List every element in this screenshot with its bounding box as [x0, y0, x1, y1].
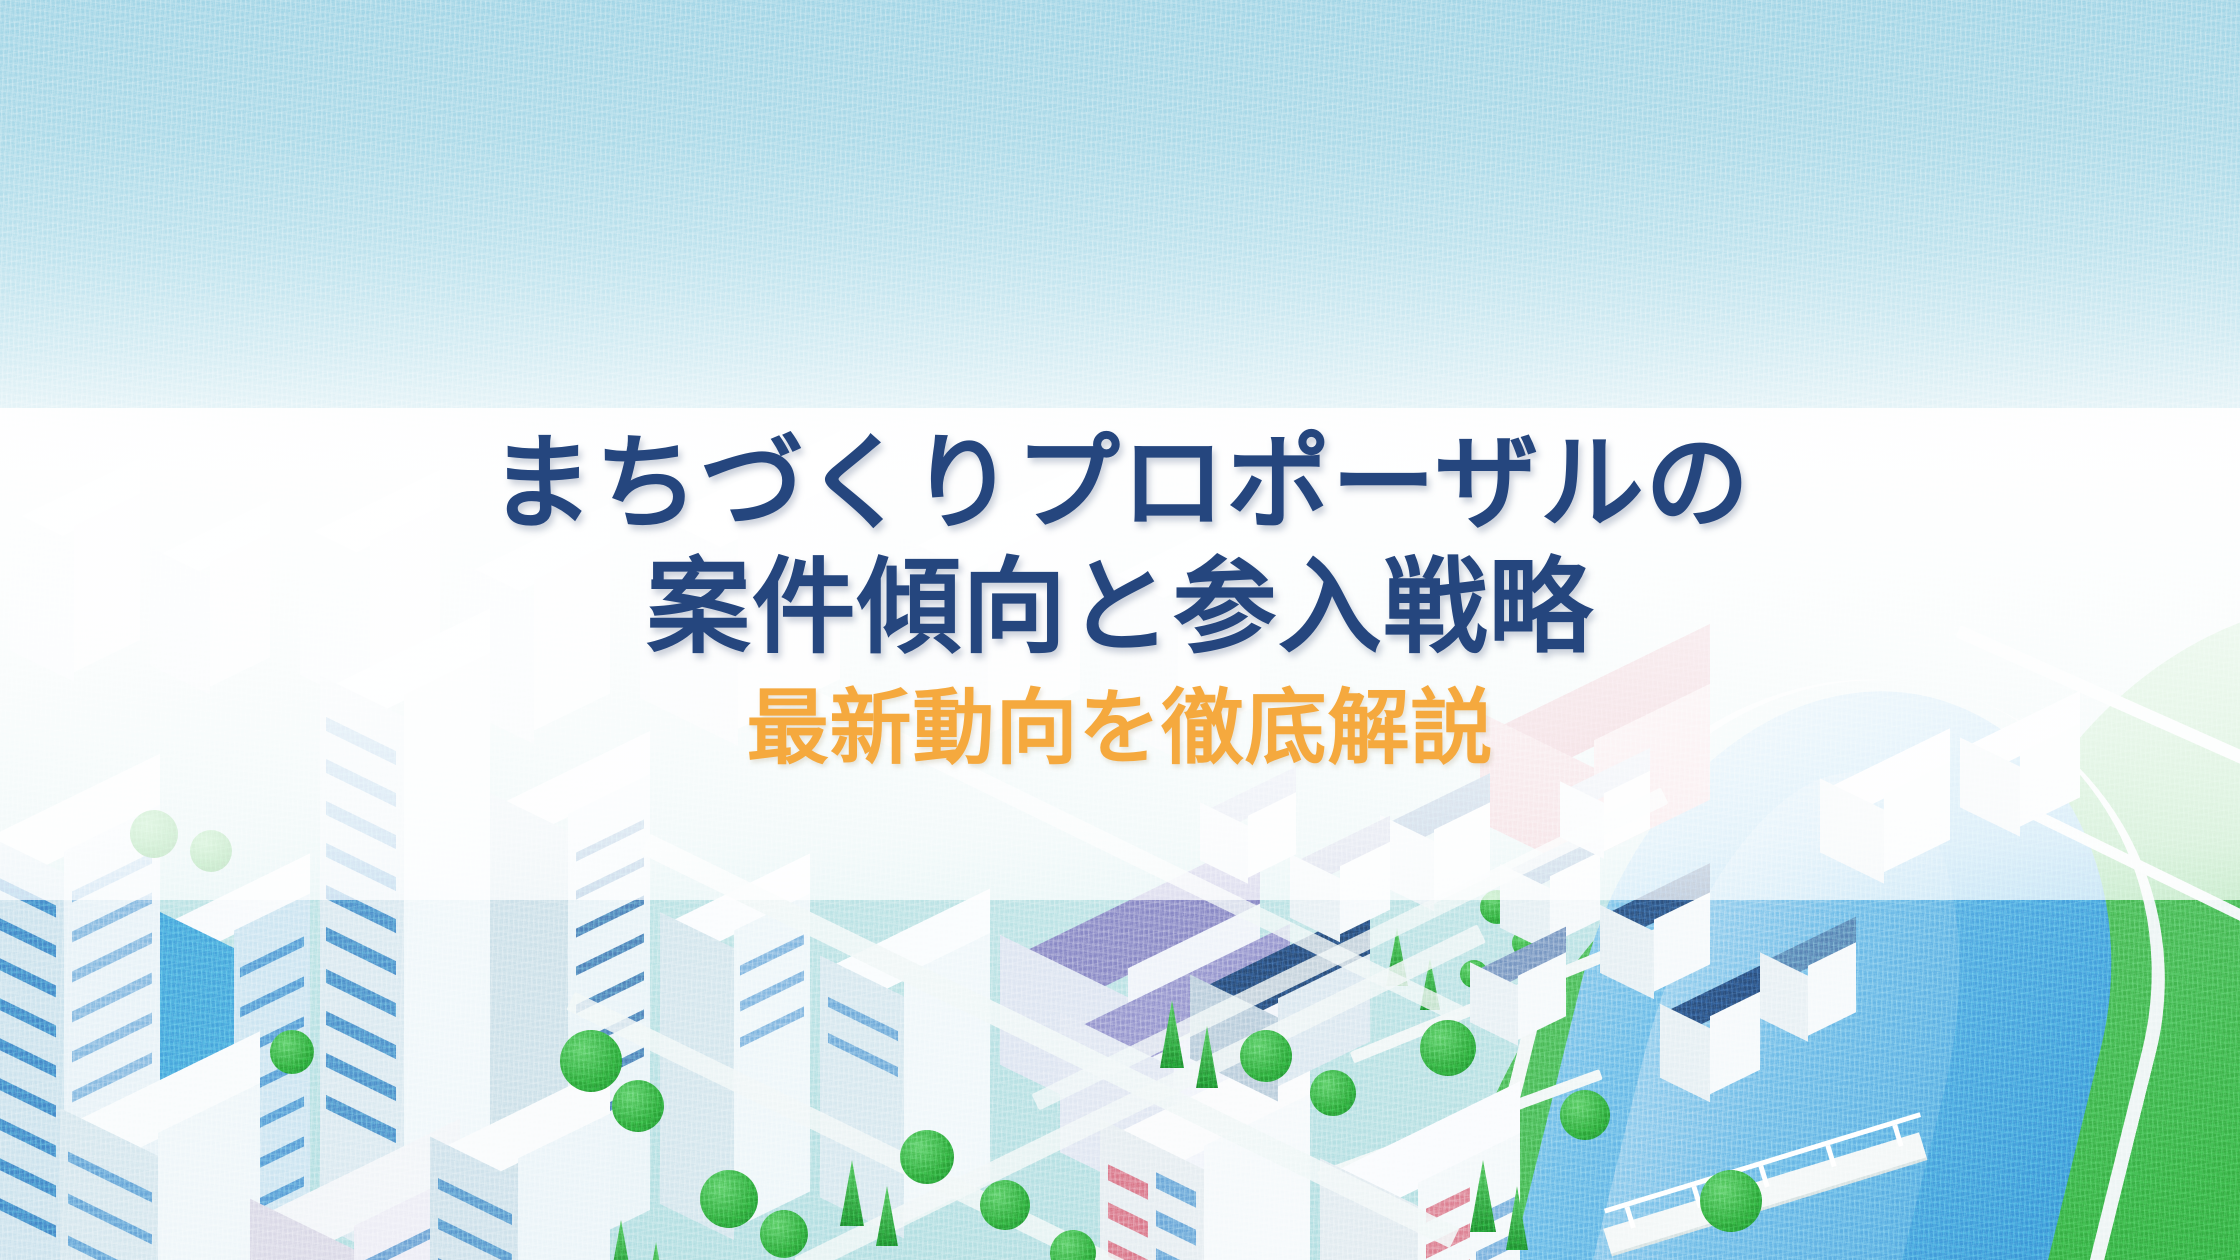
tree [980, 1180, 1030, 1230]
subtitle: 最新動向を徹底解説 [747, 684, 1494, 774]
article-hero-banner: まちづくりプロポーザルの 案件傾向と参入戦略 最新動向を徹底解説 [0, 0, 2240, 1260]
title-line-2: 案件傾向と参入戦略 [646, 546, 1593, 670]
tree [1560, 1090, 1610, 1140]
mid-rise-building [250, 1170, 460, 1260]
house [1470, 950, 1566, 1016]
banner-copy: まちづくりプロポーザルの 案件傾向と参入戦略 最新動向を徹底解説 [0, 408, 2240, 900]
sky-gradient [0, 0, 2240, 470]
house [1600, 890, 1710, 964]
tree [270, 1030, 314, 1074]
house [1760, 940, 1856, 1012]
tree [560, 1030, 622, 1092]
tree [760, 1210, 808, 1258]
conifer-tree [646, 1242, 666, 1260]
building [660, 890, 810, 1190]
tree [1700, 1170, 1762, 1232]
tree [1420, 1020, 1476, 1076]
tree [612, 1080, 664, 1132]
title-line-1: まちづくりプロポーザルの [490, 422, 1751, 546]
mid-rise-building [60, 1080, 260, 1260]
tree [1310, 1070, 1356, 1116]
house [1660, 990, 1760, 1070]
tree [700, 1170, 758, 1228]
mid-rise-building [430, 1110, 610, 1260]
tree [900, 1130, 954, 1184]
tree [1240, 1030, 1292, 1082]
